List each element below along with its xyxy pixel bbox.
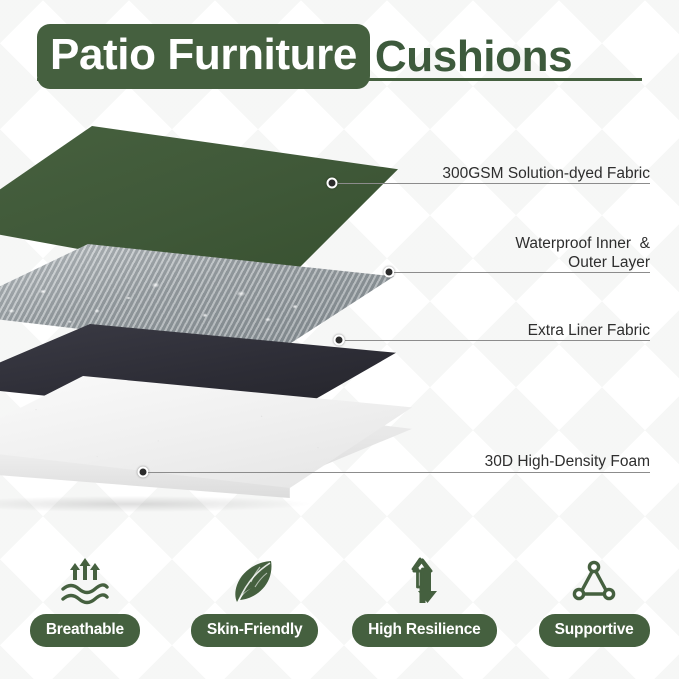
- callout-leader-liner: [345, 340, 650, 341]
- feather-icon: [226, 556, 284, 608]
- title-plain-text: Cushions: [370, 35, 572, 79]
- up-down-arrows-icon: [401, 556, 447, 608]
- callout-label-fabric: 300GSM Solution-dyed Fabric: [340, 164, 650, 183]
- airflow-waves-icon: [57, 556, 113, 608]
- callout-leader-fabric: [338, 183, 650, 184]
- feature-label-breathable: Breathable: [30, 614, 140, 647]
- callout-leader-waterproof: [394, 272, 650, 273]
- callout-label-foam: 30D High-Density Foam: [340, 452, 650, 471]
- callout-label-waterproof: Waterproof Inner & Outer Layer: [340, 234, 650, 272]
- callout-dot-fabric: [327, 178, 338, 189]
- foam-ground-shadow: [0, 496, 309, 512]
- feature-label-skin-friendly: Skin-Friendly: [191, 614, 319, 647]
- feature-high-resilience[interactable]: High Resilience: [344, 556, 504, 647]
- feature-label-supportive: Supportive: [539, 614, 650, 647]
- callout-leader-foam: [148, 472, 650, 473]
- feature-label-high-resilience: High Resilience: [352, 614, 496, 647]
- header: Patio Furniture Cushions: [0, 0, 679, 88]
- triangle-nodes-icon: [569, 556, 619, 608]
- callout-label-liner: Extra Liner Fabric: [340, 321, 650, 340]
- feature-badges: Breathable Skin-Friendly High Resilien: [0, 556, 679, 666]
- feature-supportive[interactable]: Supportive: [514, 556, 674, 647]
- feature-breathable[interactable]: Breathable: [5, 556, 165, 647]
- callout-dot-foam: [138, 467, 149, 478]
- title-underline-rule: [37, 78, 642, 81]
- feature-skin-friendly[interactable]: Skin-Friendly: [175, 556, 335, 647]
